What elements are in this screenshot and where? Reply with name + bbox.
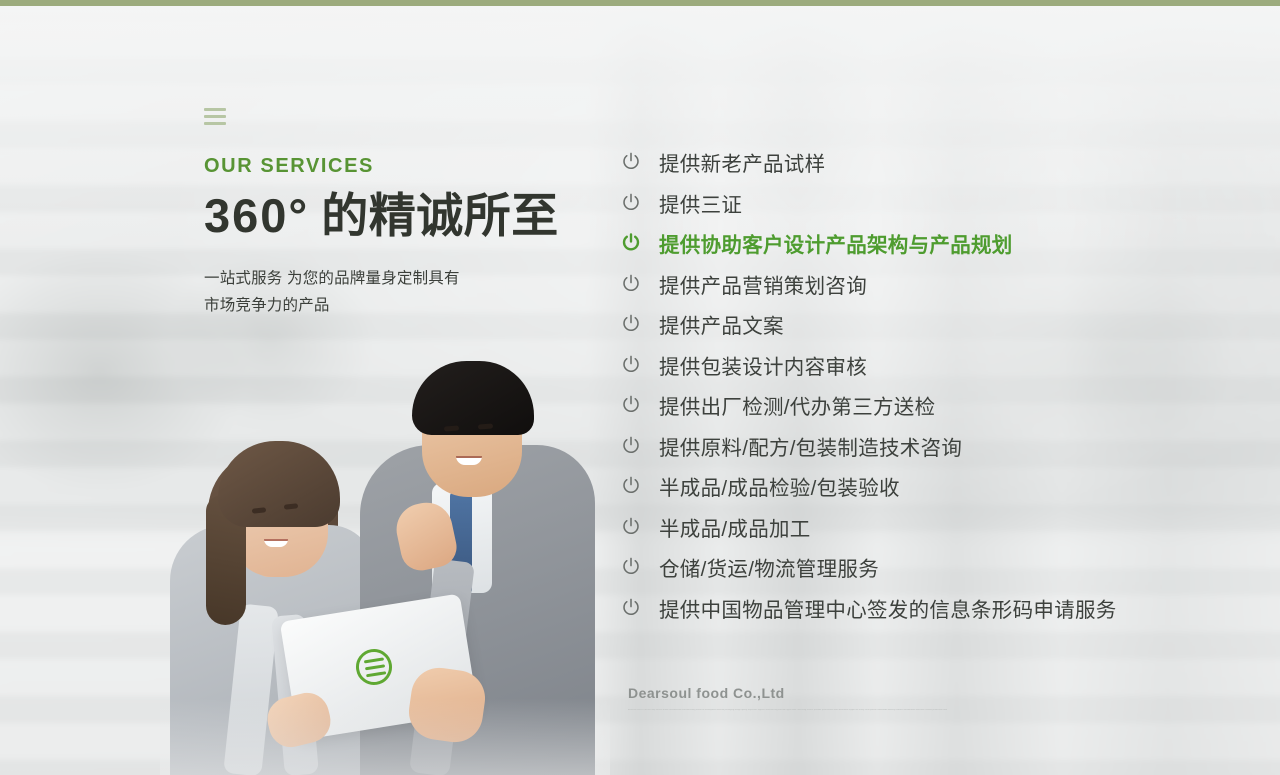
service-item-label: 提供协助客户设计产品架构与产品规划 (659, 228, 1013, 258)
page-title: 360°的精诚所至 (204, 190, 604, 243)
power-icon (620, 394, 642, 416)
service-item[interactable]: 提供新老产品试样 (620, 142, 1117, 183)
footer-fine-print: dearsoul food co.,ltd one stop service b… (628, 709, 1228, 712)
power-icon (620, 192, 642, 214)
services-list: 提供新老产品试样提供三证提供协助客户设计产品架构与产品规划提供产品营销策划咨询提… (620, 142, 1117, 628)
power-icon (620, 597, 642, 619)
power-icon (620, 435, 642, 457)
power-icon (620, 273, 642, 295)
hero-subtitle-line-2: 市场竞争力的产品 (204, 292, 604, 320)
service-item[interactable]: 提供协助客户设计产品架构与产品规划 (620, 223, 1117, 264)
service-item[interactable]: 提供三证 (620, 183, 1117, 224)
hero-subtitle-line-1: 一站式服务 为您的品牌量身定制具有 (204, 265, 604, 293)
service-item-label: 提供中国物品管理中心签发的信息条形码申请服务 (659, 593, 1117, 623)
service-item-label: 提供三证 (659, 188, 742, 218)
page-root: OUR SERVICES 360°的精诚所至 一站式服务 为您的品牌量身定制具有… (0, 0, 1280, 775)
power-icon (620, 354, 642, 376)
power-icon (620, 556, 642, 578)
service-item-label: 半成品/成品检验/包装验收 (659, 471, 900, 501)
service-item-label: 提供新老产品试样 (659, 147, 825, 177)
power-icon (620, 516, 642, 538)
service-item[interactable]: 半成品/成品加工 (620, 507, 1117, 548)
footer-brand-block: Dearsoul food Co.,Ltd dearsoul food co.,… (628, 685, 1228, 712)
hero-subtitle: 一站式服务 为您的品牌量身定制具有 市场竞争力的产品 (204, 265, 604, 320)
power-icon (620, 151, 642, 173)
service-item-label: 半成品/成品加工 (659, 512, 811, 542)
service-item-label: 提供产品文案 (659, 309, 784, 339)
hamburger-bar (204, 108, 226, 111)
service-item[interactable]: 半成品/成品检验/包装验收 (620, 466, 1117, 507)
company-name: Dearsoul food Co.,Ltd (628, 685, 1228, 701)
service-item-label: 提供原料/配方/包装制造技术咨询 (659, 431, 962, 461)
headline-chinese: 的精诚所至 (321, 189, 559, 242)
headline-number: 360° (204, 189, 309, 242)
service-item-label: 提供产品营销策划咨询 (659, 269, 867, 299)
service-item-label: 提供包装设计内容审核 (659, 350, 867, 380)
service-item[interactable]: 提供产品营销策划咨询 (620, 264, 1117, 305)
service-item[interactable]: 提供包装设计内容审核 (620, 345, 1117, 386)
photo-bottom-fade (160, 350, 610, 775)
service-item[interactable]: 提供中国物品管理中心签发的信息条形码申请服务 (620, 588, 1117, 629)
top-accent-strip (0, 0, 1280, 6)
business-team-photo (160, 350, 610, 775)
hamburger-icon[interactable] (204, 108, 226, 125)
service-item[interactable]: 提供出厂检测/代办第三方送检 (620, 385, 1117, 426)
hamburger-bar (204, 115, 226, 118)
hero-text-column: OUR SERVICES 360°的精诚所至 一站式服务 为您的品牌量身定制具有… (204, 108, 604, 320)
service-item[interactable]: 提供产品文案 (620, 304, 1117, 345)
section-eyebrow: OUR SERVICES (204, 155, 604, 178)
hamburger-bar (204, 122, 226, 125)
power-icon (620, 313, 642, 335)
service-item-label: 仓储/货运/物流管理服务 (659, 552, 879, 582)
service-item[interactable]: 仓储/货运/物流管理服务 (620, 547, 1117, 588)
service-item[interactable]: 提供原料/配方/包装制造技术咨询 (620, 426, 1117, 467)
power-icon (620, 475, 642, 497)
service-item-label: 提供出厂检测/代办第三方送检 (659, 390, 935, 420)
power-icon (620, 232, 642, 254)
